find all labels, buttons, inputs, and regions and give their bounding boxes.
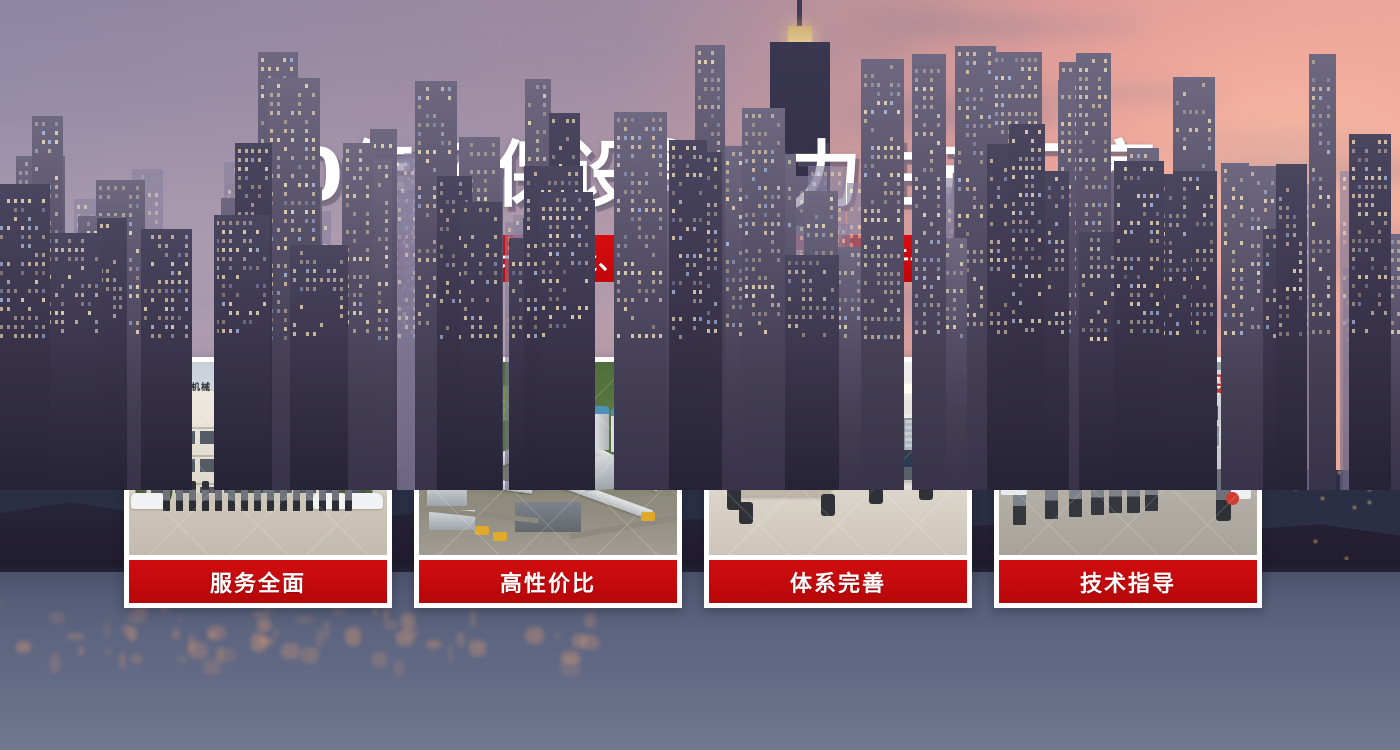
card-label: 高性价比 [419, 560, 677, 603]
card-label: 技术指导 [999, 560, 1257, 603]
card-label: 体系完善 [709, 560, 967, 603]
card-label-text: 服务全面 [210, 566, 306, 598]
hero-banner: 30年环保设备实力生产厂家 集设计、制造、安装、调试、售后服务于一体 [0, 0, 1400, 750]
tower-antenna [797, 0, 802, 28]
card-label: 服务全面 [129, 560, 387, 603]
card-label-text: 技术指导 [1080, 566, 1176, 598]
card-label-text: 体系完善 [790, 566, 886, 598]
card-label-text: 高性价比 [500, 566, 596, 598]
